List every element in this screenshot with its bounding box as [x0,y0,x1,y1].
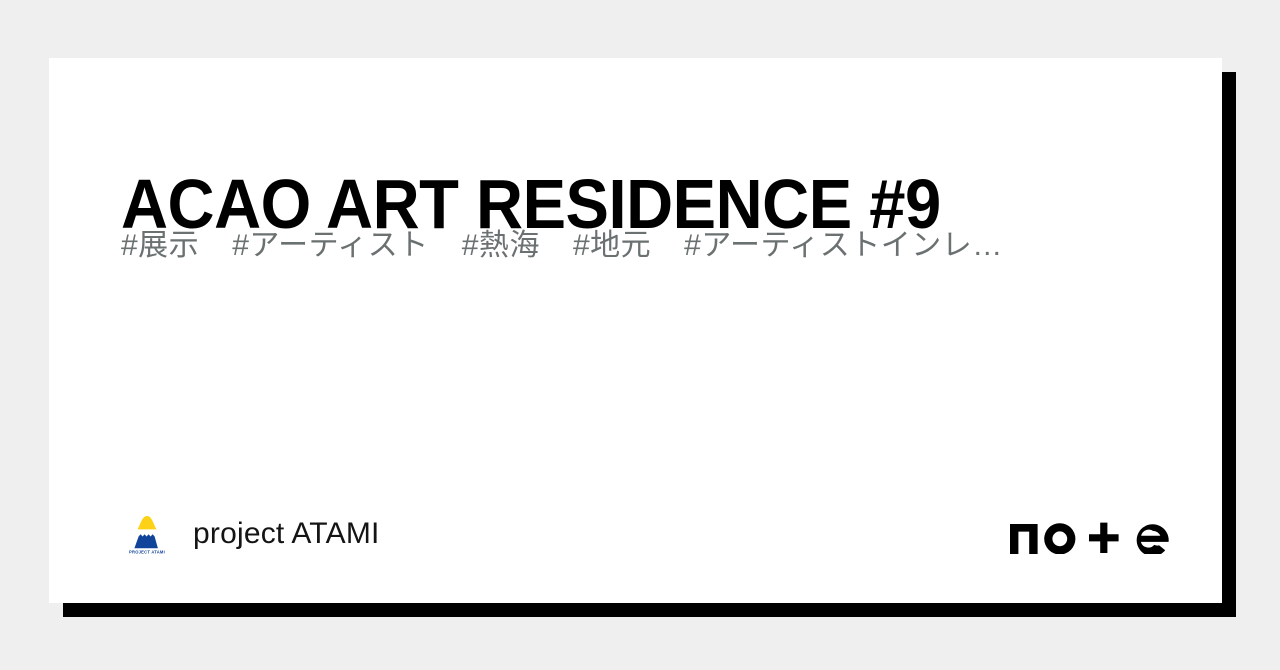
tag-item-2[interactable]: #熱海 [462,226,540,265]
article-card[interactable]: ACAO ART RESIDENCE #9 #展示 #アーティスト #熱海 #地… [49,58,1222,603]
tag-item-1[interactable]: #アーティスト [232,226,429,265]
author-block[interactable]: PROJECT ATAMI project ATAMI [121,508,380,560]
tag-list: #展示 #アーティスト #熱海 #地元 #アーティストインレ… [121,226,1133,265]
card-footer: PROJECT ATAMI project ATAMI [49,483,1222,603]
tag-item-3[interactable]: #地元 [573,226,651,265]
avatar-caption: PROJECT ATAMI [129,550,165,555]
project-atami-mountain-logo-icon: PROJECT ATAMI [121,508,173,560]
article-card-wrapper: ACAO ART RESIDENCE #9 #展示 #アーティスト #熱海 #地… [49,58,1222,603]
tag-item-4[interactable]: #アーティストインレ… [684,226,1003,265]
tag-item-0[interactable]: #展示 [121,226,199,265]
note-wordmark-logo-icon [1010,514,1169,554]
author-name: project ATAMI [193,519,380,549]
